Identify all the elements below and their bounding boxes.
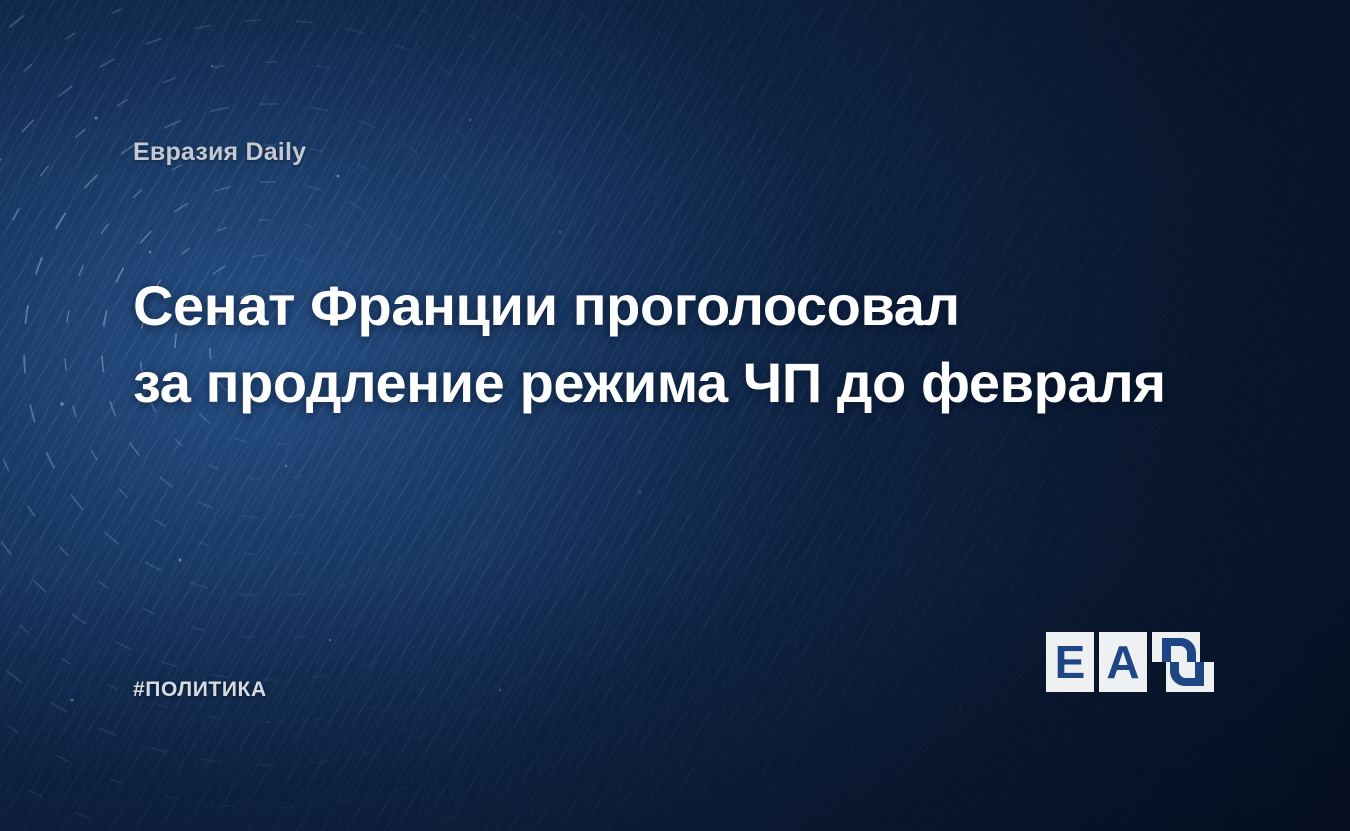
headline-line-1: Сенат Франции проголосовал	[133, 267, 1253, 344]
logo-tile-a: A	[1099, 632, 1147, 692]
letter-d-split-icon	[1152, 632, 1214, 692]
logo-tile-d	[1152, 632, 1214, 692]
headline: Сенат Франции проголосовал за продление …	[133, 267, 1253, 421]
category-tag[interactable]: #ПОЛИТИКА	[133, 678, 267, 702]
logo-tile-e: E	[1046, 632, 1094, 692]
card-content: Евразия Daily Сенат Франции проголосовал…	[0, 0, 1350, 831]
brand-wordmark: Евразия Daily	[133, 138, 306, 167]
headline-line-2: за продление режима ЧП до февраля	[133, 344, 1253, 421]
news-card: Евразия Daily Сенат Франции проголосовал…	[0, 0, 1350, 831]
eadaily-logo[interactable]: E A	[1046, 632, 1214, 692]
